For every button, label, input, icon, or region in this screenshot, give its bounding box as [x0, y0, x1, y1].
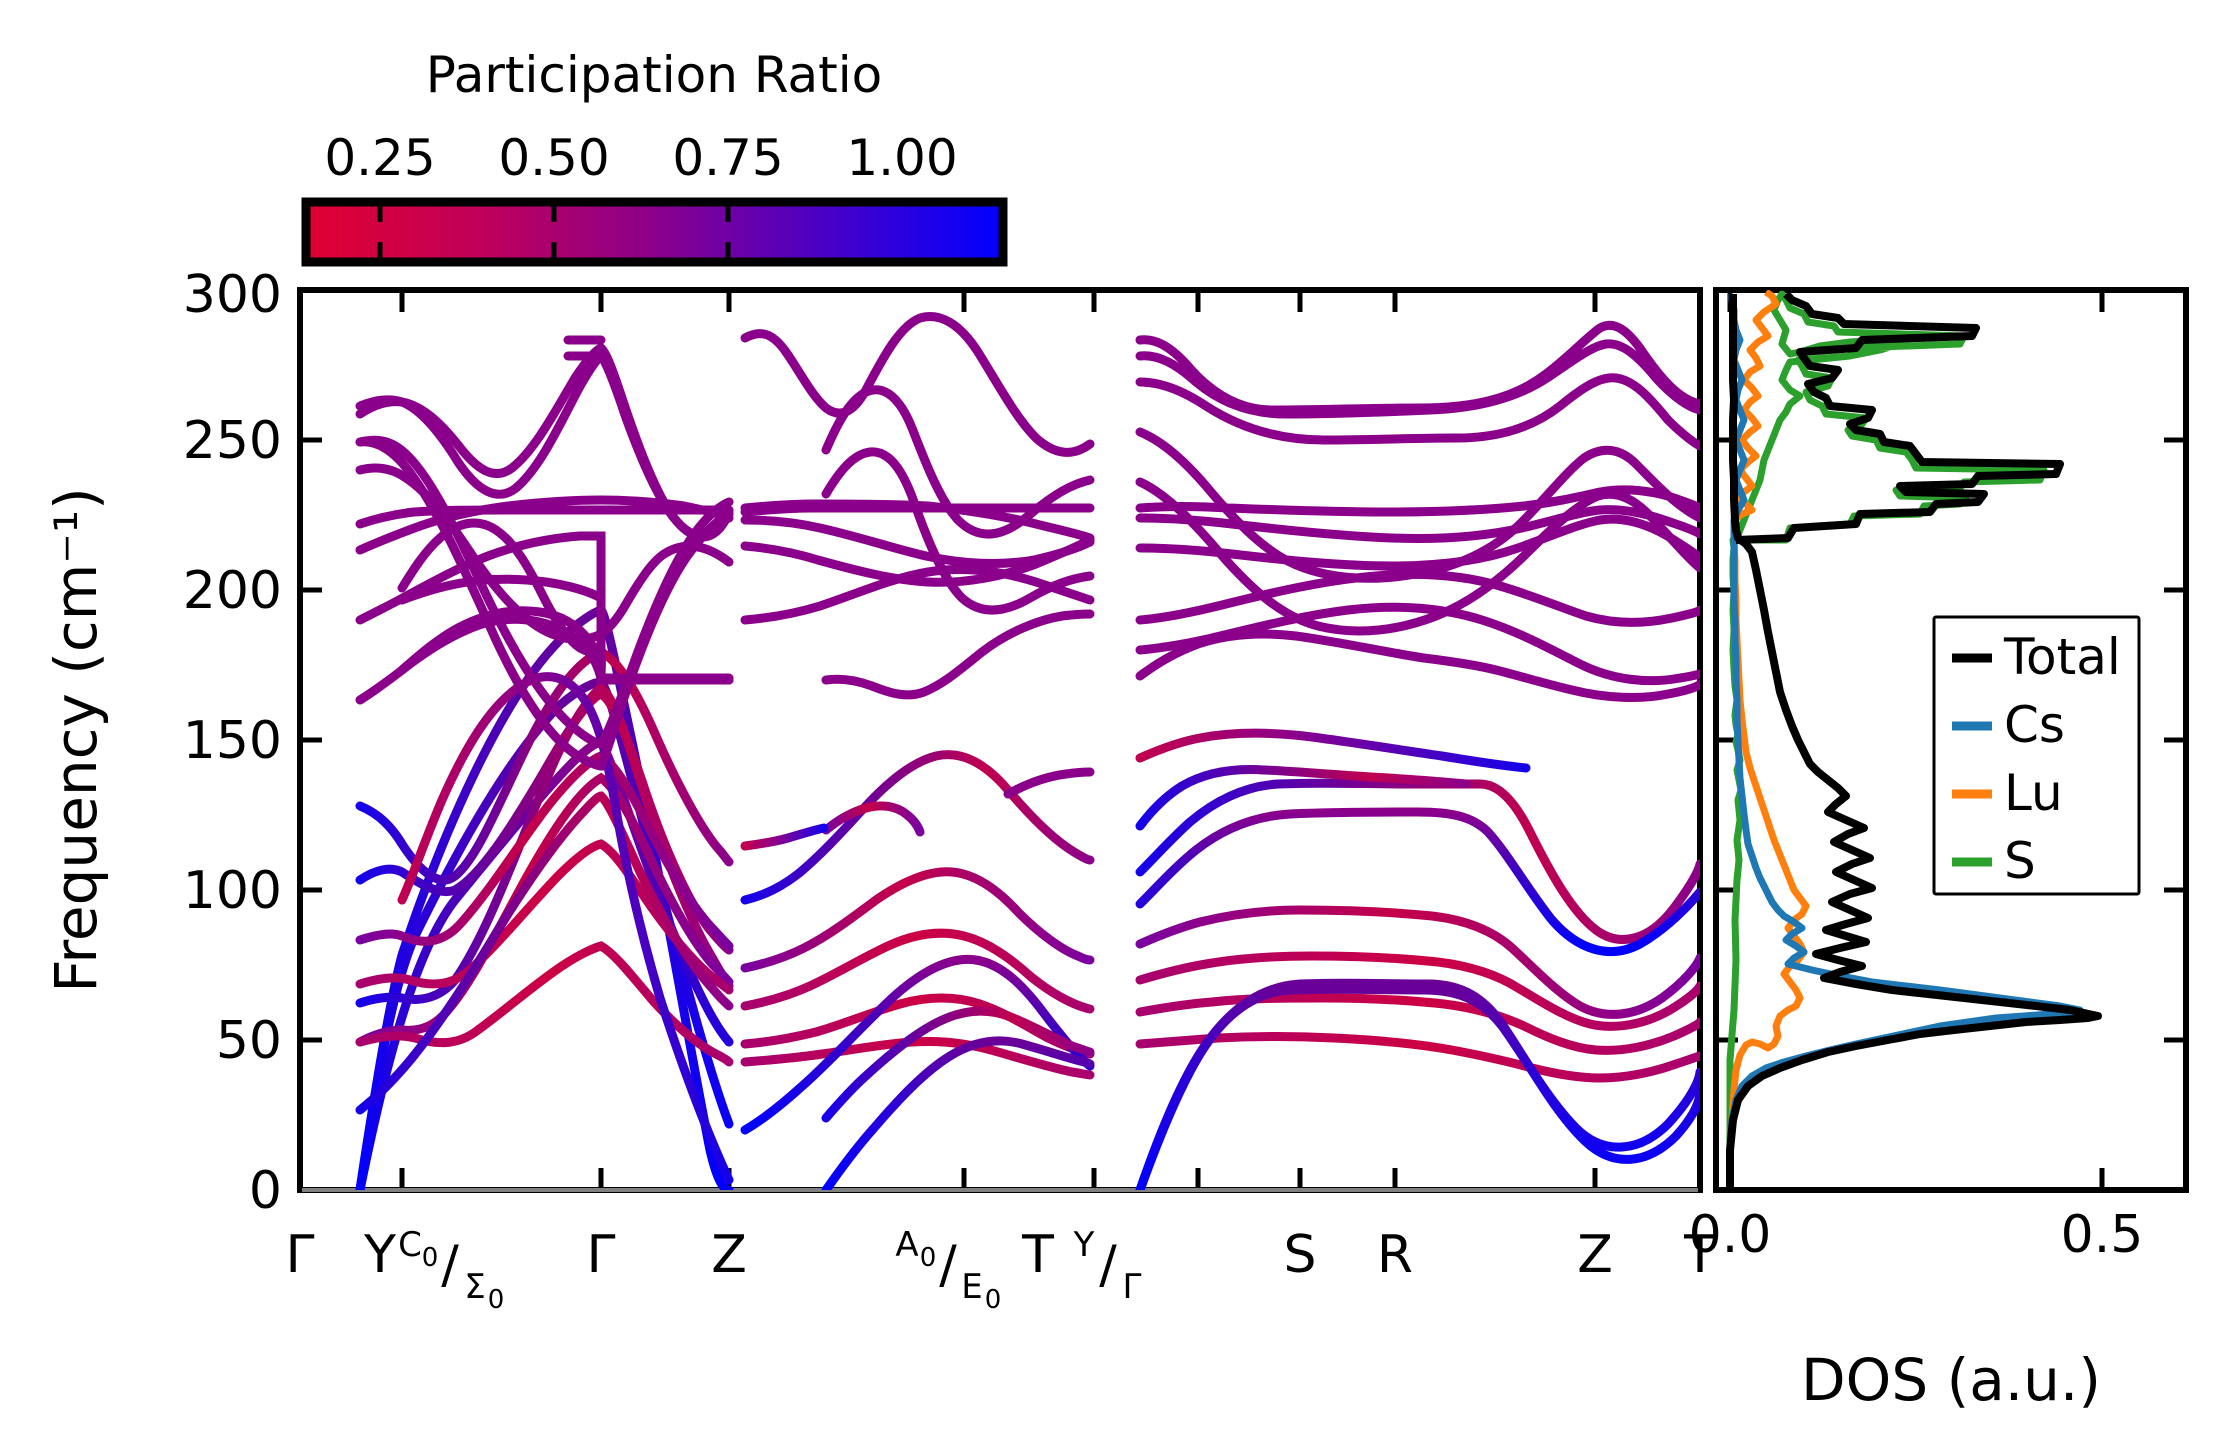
- bands-ytick-label-4: 200: [183, 561, 282, 621]
- kpoint-label-a-sub: 0: [920, 1243, 937, 1273]
- bands-ytick-label-5: 250: [183, 411, 282, 471]
- bandB-lower-11: [745, 828, 824, 846]
- kpoint-label-gamma-1: Γ: [286, 1225, 315, 1285]
- kpoint-label-c-sub: 0: [422, 1243, 439, 1273]
- kpoint-label-sigma: Σ: [464, 1267, 485, 1307]
- kpoint-label-slash-2: /: [939, 1235, 957, 1295]
- y-axis-label: Frequency (cm⁻¹): [42, 487, 110, 993]
- colorbar-gradient: [306, 202, 1003, 262]
- dos-x-axis-label: DOS (a.u.): [1801, 1346, 2101, 1414]
- colorbar-tick-label-2: 0.75: [672, 129, 783, 187]
- bands-ytick-label-2: 100: [183, 861, 282, 921]
- kpoint-label-e: E: [961, 1267, 982, 1307]
- bandC-lower-6: [1140, 1037, 1700, 1079]
- kpoint-label-y2: Y: [1073, 1225, 1095, 1265]
- legend-label-s: S: [2004, 832, 2036, 890]
- bandB-upper-9: [826, 614, 1090, 695]
- bandB-lower-2: [745, 872, 1090, 968]
- bands-ytick-label-0: 0: [249, 1161, 282, 1221]
- kpoint-labels: Γ Y C 0 / Σ 0 Γ Z A 0 / E 0 T Y / Γ S R …: [286, 1225, 1717, 1315]
- kpoint-label-gamma-2: Γ: [587, 1225, 616, 1285]
- colorbar-tick-label-1: 0.50: [498, 129, 609, 187]
- kpoint-label-e-sub: 0: [985, 1285, 1002, 1315]
- bandC-upper-9: [1140, 574, 1700, 622]
- dos-xtick-label-0: 0.0: [1689, 1205, 1772, 1265]
- figure-canvas: Participation Ratio 0.25 0.50 0.75 1.00 …: [0, 0, 2222, 1455]
- kpoint-label-c: C: [398, 1225, 422, 1265]
- legend-label-cs: Cs: [2004, 696, 2065, 754]
- kpoint-label-sigma-sub: 0: [488, 1285, 505, 1315]
- kpoint-label-s: S: [1283, 1225, 1316, 1285]
- bands-ytick-label-6: 300: [183, 265, 282, 325]
- kpoint-label-gamma-3: Γ: [1123, 1267, 1142, 1307]
- bandC-lower-12: [1140, 733, 1526, 768]
- dos-xtick-label-1: 0.5: [2061, 1205, 2144, 1265]
- kpoint-label-y-gamma: Y / Γ: [1073, 1225, 1142, 1307]
- phonon-figure: Participation Ratio 0.25 0.50 0.75 1.00 …: [0, 0, 2222, 1455]
- band-curves: [360, 316, 1700, 1190]
- bands-y-ticks: [300, 290, 322, 1190]
- bands-ytick-label-1: 50: [216, 1011, 282, 1071]
- kpoint-label-t-1: T: [1021, 1225, 1054, 1285]
- colorbar-group: Participation Ratio 0.25 0.50 0.75 1.00: [306, 46, 1003, 262]
- legend-label-lu: Lu: [2004, 764, 2063, 822]
- kpoint-label-z-2: Z: [1577, 1225, 1613, 1285]
- kpoint-label-z-1: Z: [711, 1225, 747, 1285]
- legend-label-total: Total: [2003, 628, 2121, 686]
- kpoint-label-slash-3: /: [1099, 1235, 1117, 1295]
- bandC-lower-2: [1140, 812, 1700, 952]
- bands-ytick-label-3: 150: [183, 711, 282, 771]
- kpoint-label-y: Y: [363, 1225, 396, 1285]
- y-axis-label-group: Frequency (cm⁻¹): [42, 487, 110, 993]
- bandB-lower-9: [1008, 772, 1090, 794]
- colorbar-title: Participation Ratio: [426, 46, 882, 104]
- kpoint-label-slash-1: /: [441, 1235, 459, 1295]
- colorbar-tick-label-0: 0.25: [324, 129, 435, 187]
- kpoint-label-r: R: [1377, 1225, 1413, 1285]
- kpoint-label-y-c0-sigma0: Y C 0 / Σ 0: [363, 1225, 504, 1315]
- colorbar-tick-label-3: 1.00: [846, 129, 957, 187]
- kpoint-label-a: A: [895, 1225, 918, 1265]
- dos-legend[interactable]: Total Cs Lu S: [1934, 617, 2139, 894]
- kpoint-label-a0-e0: A 0 / E 0: [895, 1225, 1001, 1315]
- band-upper-12: [402, 611, 729, 680]
